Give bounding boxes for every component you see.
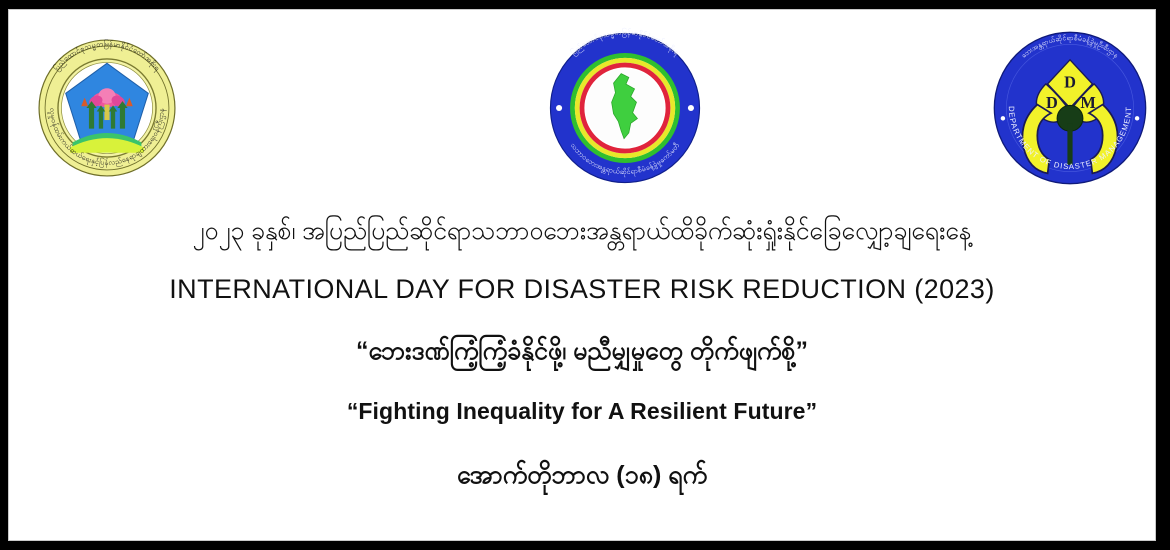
ddm-letter-m-right: M — [1080, 93, 1095, 112]
ddm-letter-d-top: D — [1064, 72, 1076, 91]
event-title-burmese: ၂၀၂၃ ခုနှစ်၊ အပြည်ပြည်ဆိုင်ရာသဘာဝဘေးအန္တ… — [9, 200, 1155, 248]
page-surface: ပြည်ထောင်စုသမ္မတမြန်မာနိုင်ငံတော်အစိုးရ … — [8, 9, 1156, 541]
ddm-letter-d-left: D — [1046, 93, 1058, 112]
event-slogan-burmese: “ဘေးဒဏ်ကြံ့ကြံ့ခံနိုင်ဖို့၊ မညီမျှမှုတွေ… — [9, 306, 1155, 368]
ministry-seal-logo: ပြည်ထောင်စုသမ္မတမြန်မာနိုင်ငံတော်အစိုးရ … — [21, 22, 193, 194]
event-date-burmese: အောက်တိုဘာလ (၁၈) ရက် — [9, 426, 1155, 492]
poster-root: ပြည်ထောင်စုသမ္မတမြန်မာနိုင်ငံတော်အစိုးရ … — [0, 0, 1170, 550]
poster-text-block: ၂၀၂၃ ခုနှစ်၊ အပြည်ပြည်ဆိုင်ရာသဘာဝဘေးအန္တ… — [9, 200, 1155, 492]
national-disaster-management-seal-logo: ပြည်ထောင်စုသမ္မတမြန်မာနိုင်ငံတော်အစိုးရ … — [527, 22, 723, 194]
event-slogan-english: “Fighting Inequality for A Resilient Fut… — [9, 368, 1155, 426]
event-title-english: INTERNATIONAL DAY FOR DISASTER RISK REDU… — [9, 248, 1155, 306]
emblem-row: ပြည်ထောင်စုသမ္မတမြန်မာနိုင်ငံတော်အစိုးရ … — [9, 10, 1155, 200]
ddm-seal-logo: D D M ဘေးအန္တရာယ်ဆိုင်ရာစီမံခန့်ခွဲမှုဦး… — [984, 22, 1156, 194]
